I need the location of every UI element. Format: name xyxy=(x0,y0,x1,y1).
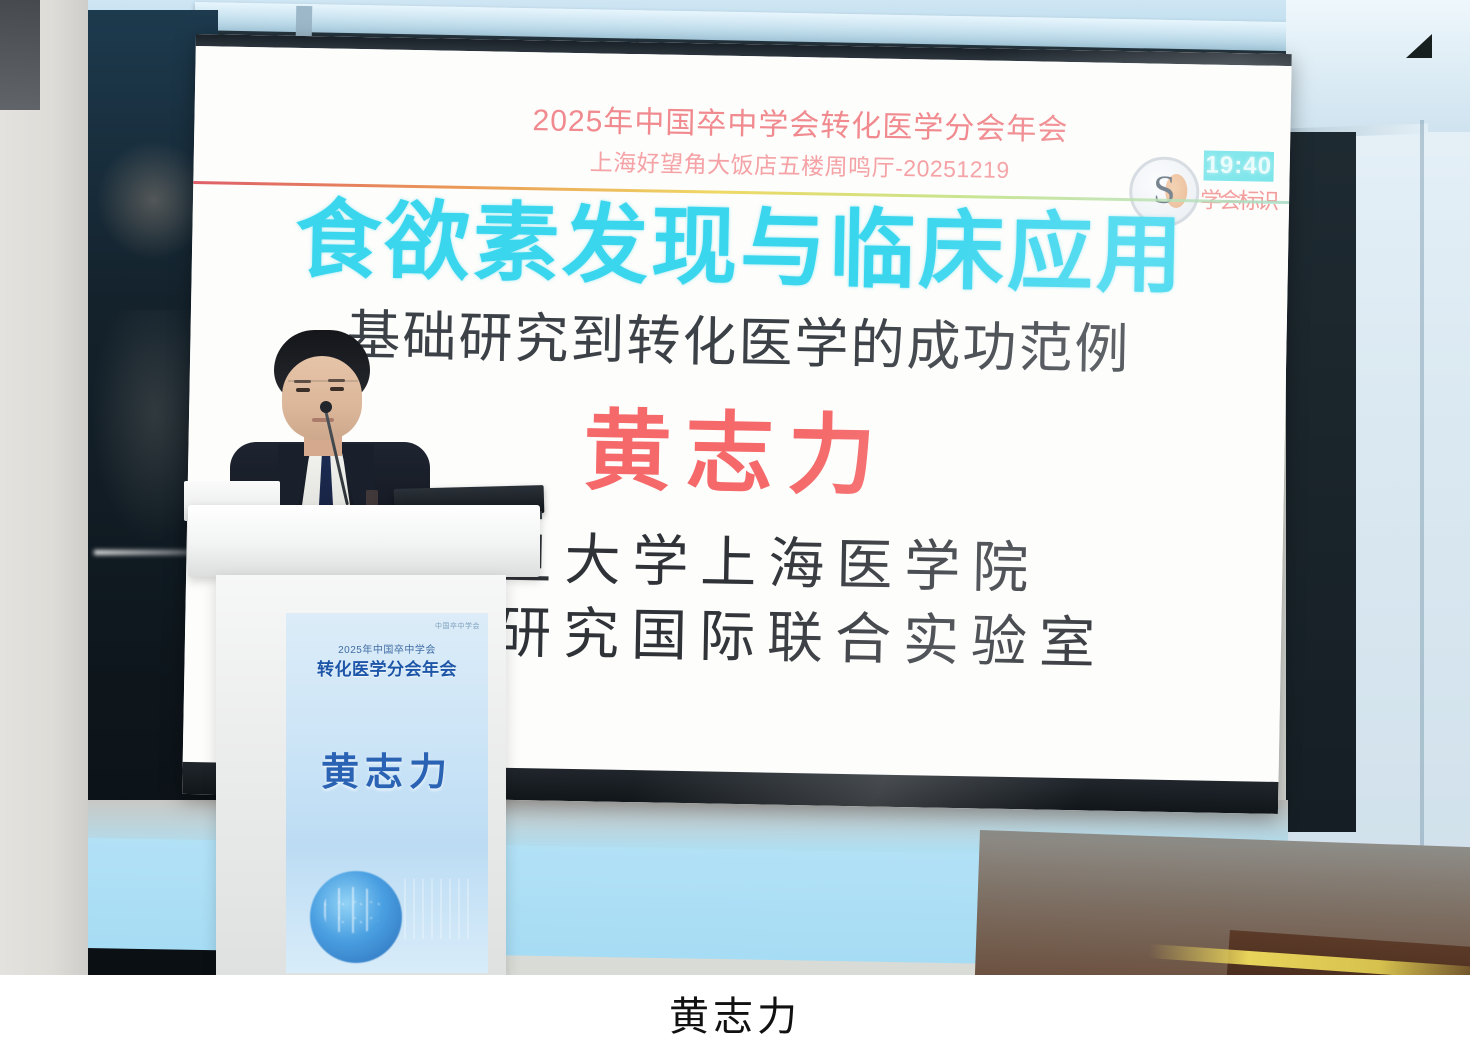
podium-conference-small: 2025年中国卒中学会 xyxy=(286,641,488,656)
conference-venue: 上海好望角大饭店五楼周鸣厅-20251219 xyxy=(479,141,1120,187)
left-pillar-top-dark xyxy=(0,0,40,110)
presenter-badge xyxy=(366,490,378,506)
podium-speaker-name: 黄志力 xyxy=(286,741,488,796)
podium: 中国卒中学会 2025年中国卒中学会 转化医学分会年会 黄志力 xyxy=(188,505,540,975)
podium-conference-big: 转化医学分会年会 xyxy=(286,655,488,680)
podium-waveform-graphic xyxy=(404,879,474,939)
podium-branding-panel: 中国卒中学会 2025年中国卒中学会 转化医学分会年会 黄志力 xyxy=(286,613,488,973)
caption-text: 黄志力 xyxy=(669,984,801,1042)
photo-page: 2025年中国卒中学会转化医学分会年会 上海好望角大饭店五楼周鸣厅-202512… xyxy=(0,0,1470,1051)
right-wall-soffit xyxy=(1286,0,1470,132)
presenter-mouth xyxy=(312,418,334,422)
conference-photo: 2025年中国卒中学会转化医学分会年会 上海好望角大饭店五楼周鸣厅-202512… xyxy=(0,0,1470,975)
microphone-head-icon xyxy=(320,401,332,413)
presenter-glasses xyxy=(288,380,358,400)
podium-corner-logo: 中国卒中学会 xyxy=(435,621,480,631)
caption-bar: 黄志力 xyxy=(0,975,1470,1051)
slide-header: 2025年中国卒中学会转化医学分会年会 上海好望角大饭店五楼周鸣厅-202512… xyxy=(479,103,1120,186)
logo-s-glyph: S xyxy=(1153,170,1176,210)
ceiling-rail-clip xyxy=(296,6,313,36)
podium-brain-network-icon xyxy=(310,871,402,963)
slide-main-title: 食欲素发现与临床应用 xyxy=(191,194,1288,304)
podium-top-surface xyxy=(188,505,540,577)
left-pillar xyxy=(0,0,88,975)
right-dark-panel xyxy=(1286,132,1356,832)
